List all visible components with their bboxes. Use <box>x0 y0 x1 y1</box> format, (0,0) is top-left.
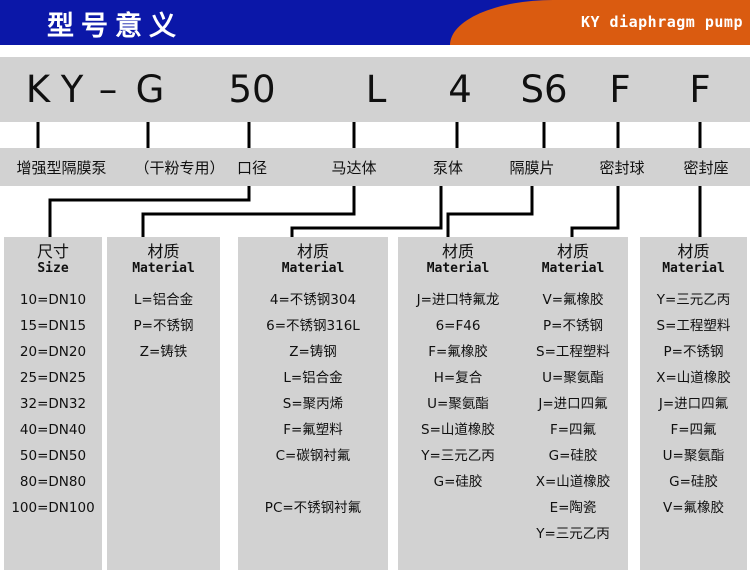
detail-option-item: V=氟橡胶 <box>640 495 747 521</box>
detail-option-item: J=进口四氟 <box>518 391 628 417</box>
detail-option-list: 10=DN1015=DN1520=DN2025=DN2532=DN3240=DN… <box>4 277 102 521</box>
detail-option-item: U=聚氨酯 <box>640 443 747 469</box>
detail-option-item: S=山道橡胶 <box>398 417 518 443</box>
detail-option-item: P=不锈钢 <box>518 313 628 339</box>
detail-title-cn: 材质 <box>640 242 747 261</box>
detail-option-item: S=工程塑料 <box>518 339 628 365</box>
detail-option-item: G=硅胶 <box>398 469 518 495</box>
detail-option-item: 6=不锈钢316L <box>238 313 388 339</box>
detail-option-item: 50=DN50 <box>4 443 102 469</box>
detail-option-item: J=进口四氟 <box>640 391 747 417</box>
detail-option-list: Y=三元乙丙S=工程塑料P=不锈钢X=山道橡胶J=进口四氟F=四氟U=聚氨酯G=… <box>640 277 747 521</box>
field-label: （干粉专用） <box>122 148 237 186</box>
detail-box-diaphragm: 材质MaterialJ=进口特氟龙6=F46F=氟橡胶H=复合U=聚氨酯S=山道… <box>398 237 518 570</box>
detail-option-item: S=工程塑料 <box>640 313 747 339</box>
model-code-segment: F <box>680 57 720 122</box>
field-label-row: 增强型隔膜泵（干粉专用）口径马达体泵体隔膜片密封球密封座 <box>0 148 750 186</box>
route-pump-body <box>292 186 441 237</box>
detail-title-en: Material <box>518 261 628 277</box>
detail-option-item: V=氟橡胶 <box>518 287 628 313</box>
detail-option-item: X=山道橡胶 <box>640 365 747 391</box>
page-header: 型号意义 KY diaphragm pump <box>0 0 750 45</box>
model-code-segment: – <box>88 57 128 122</box>
detail-title-cn: 材质 <box>107 242 220 261</box>
detail-option-item: G=硅胶 <box>640 469 747 495</box>
detail-option-item: Y=三元乙丙 <box>398 443 518 469</box>
detail-box-size: 尺寸Size10=DN1015=DN1520=DN2025=DN2532=DN3… <box>4 237 102 570</box>
model-code-segment: S6 <box>516 57 572 122</box>
model-code-segment: 4 <box>440 57 480 122</box>
detail-option-list: L=铝合金P=不锈钢Z=铸铁 <box>107 277 220 365</box>
detail-option-item: Z=铸铁 <box>107 339 220 365</box>
detail-option-item: X=山道橡胶 <box>518 469 628 495</box>
detail-option-list: J=进口特氟龙6=F46F=氟橡胶H=复合U=聚氨酯S=山道橡胶Y=三元乙丙G=… <box>398 277 518 495</box>
detail-title-en: Material <box>640 261 747 277</box>
detail-title-en: Material <box>238 261 388 277</box>
detail-option-item: H=复合 <box>398 365 518 391</box>
detail-option-item: 80=DN80 <box>4 469 102 495</box>
detail-option-item: E=陶瓷 <box>518 495 628 521</box>
detail-box-seal-ball: 材质MaterialV=氟橡胶P=不锈钢S=工程塑料U=聚氨酯J=进口四氟F=四… <box>518 237 628 570</box>
detail-title-en: Material <box>107 261 220 277</box>
detail-option-item: F=氟塑料 <box>238 417 388 443</box>
detail-box-pump-body: 材质Material4=不锈钢3046=不锈钢316LZ=铸钢L=铝合金S=聚丙… <box>238 237 388 570</box>
detail-title-cn: 材质 <box>398 242 518 261</box>
detail-option-list: 4=不锈钢3046=不锈钢316LZ=铸钢L=铝合金S=聚丙烯F=氟塑料C=碳钢… <box>238 277 388 521</box>
field-label: 密封座 <box>672 148 740 186</box>
detail-option-item: U=聚氨酯 <box>518 365 628 391</box>
detail-box-header: 材质Material <box>640 237 747 277</box>
route-diaphragm <box>448 186 532 237</box>
detail-option-item: G=硅胶 <box>518 443 628 469</box>
detail-option-item: L=铝合金 <box>107 287 220 313</box>
detail-option-item: 32=DN32 <box>4 391 102 417</box>
model-code-segment: F <box>600 57 640 122</box>
model-code-row: KY–G50L4S6FF <box>0 57 750 122</box>
detail-option-item: F=四氟 <box>640 417 747 443</box>
detail-list-spacer <box>238 469 388 495</box>
detail-option-item: S=聚丙烯 <box>238 391 388 417</box>
detail-title-en: Size <box>4 261 102 277</box>
field-label: 隔膜片 <box>498 148 566 186</box>
detail-option-list: V=氟橡胶P=不锈钢S=工程塑料U=聚氨酯J=进口四氟F=四氟G=硅胶X=山道橡… <box>518 277 628 547</box>
header-subtitle: KY diaphragm pump <box>581 13 743 31</box>
model-code-segment: 50 <box>222 57 282 122</box>
detail-option-item: J=进口特氟龙 <box>398 287 518 313</box>
field-label: 增强型隔膜泵 <box>4 148 119 186</box>
detail-option-item: 10=DN10 <box>4 287 102 313</box>
detail-option-item: P=不锈钢 <box>107 313 220 339</box>
detail-option-item: 100=DN100 <box>4 495 102 521</box>
field-label: 泵体 <box>420 148 476 186</box>
detail-title-cn: 尺寸 <box>4 242 102 261</box>
detail-box-motor-body: 材质MaterialL=铝合金P=不锈钢Z=铸铁 <box>107 237 220 570</box>
model-code-segment: L <box>356 57 396 122</box>
model-code-segment: G <box>128 57 172 122</box>
model-code-segment: Y <box>52 57 92 122</box>
detail-option-item: C=碳钢衬氟 <box>238 443 388 469</box>
detail-option-item: 6=F46 <box>398 313 518 339</box>
detail-option-item: 15=DN15 <box>4 313 102 339</box>
field-label: 马达体 <box>320 148 388 186</box>
detail-title-cn: 材质 <box>518 242 628 261</box>
detail-option-item: F=氟橡胶 <box>398 339 518 365</box>
route-seal-ball <box>572 186 618 237</box>
detail-option-item: Z=铸钢 <box>238 339 388 365</box>
detail-option-item: 20=DN20 <box>4 339 102 365</box>
detail-box-header: 材质Material <box>518 237 628 277</box>
detail-option-item: P=不锈钢 <box>640 339 747 365</box>
route-motor-body <box>143 186 354 237</box>
detail-box-header: 材质Material <box>398 237 518 277</box>
detail-option-item: PC=不锈钢衬氟 <box>238 495 388 521</box>
detail-option-item: L=铝合金 <box>238 365 388 391</box>
detail-option-item: U=聚氨酯 <box>398 391 518 417</box>
detail-option-item: 4=不锈钢304 <box>238 287 388 313</box>
detail-title-en: Material <box>398 261 518 277</box>
page-title: 型号意义 <box>47 4 183 43</box>
detail-option-item: 40=DN40 <box>4 417 102 443</box>
detail-option-item: 25=DN25 <box>4 365 102 391</box>
detail-option-item: Y=三元乙丙 <box>518 521 628 547</box>
detail-box-seal-seat: 材质MaterialY=三元乙丙S=工程塑料P=不锈钢X=山道橡胶J=进口四氟F… <box>640 237 747 570</box>
detail-title-cn: 材质 <box>238 242 388 261</box>
detail-box-header: 尺寸Size <box>4 237 102 277</box>
detail-option-item: F=四氟 <box>518 417 628 443</box>
field-label: 密封球 <box>588 148 656 186</box>
detail-box-header: 材质Material <box>107 237 220 277</box>
detail-box-header: 材质Material <box>238 237 388 277</box>
field-label: 口径 <box>224 148 280 186</box>
route-size <box>50 186 249 237</box>
detail-option-item: Y=三元乙丙 <box>640 287 747 313</box>
